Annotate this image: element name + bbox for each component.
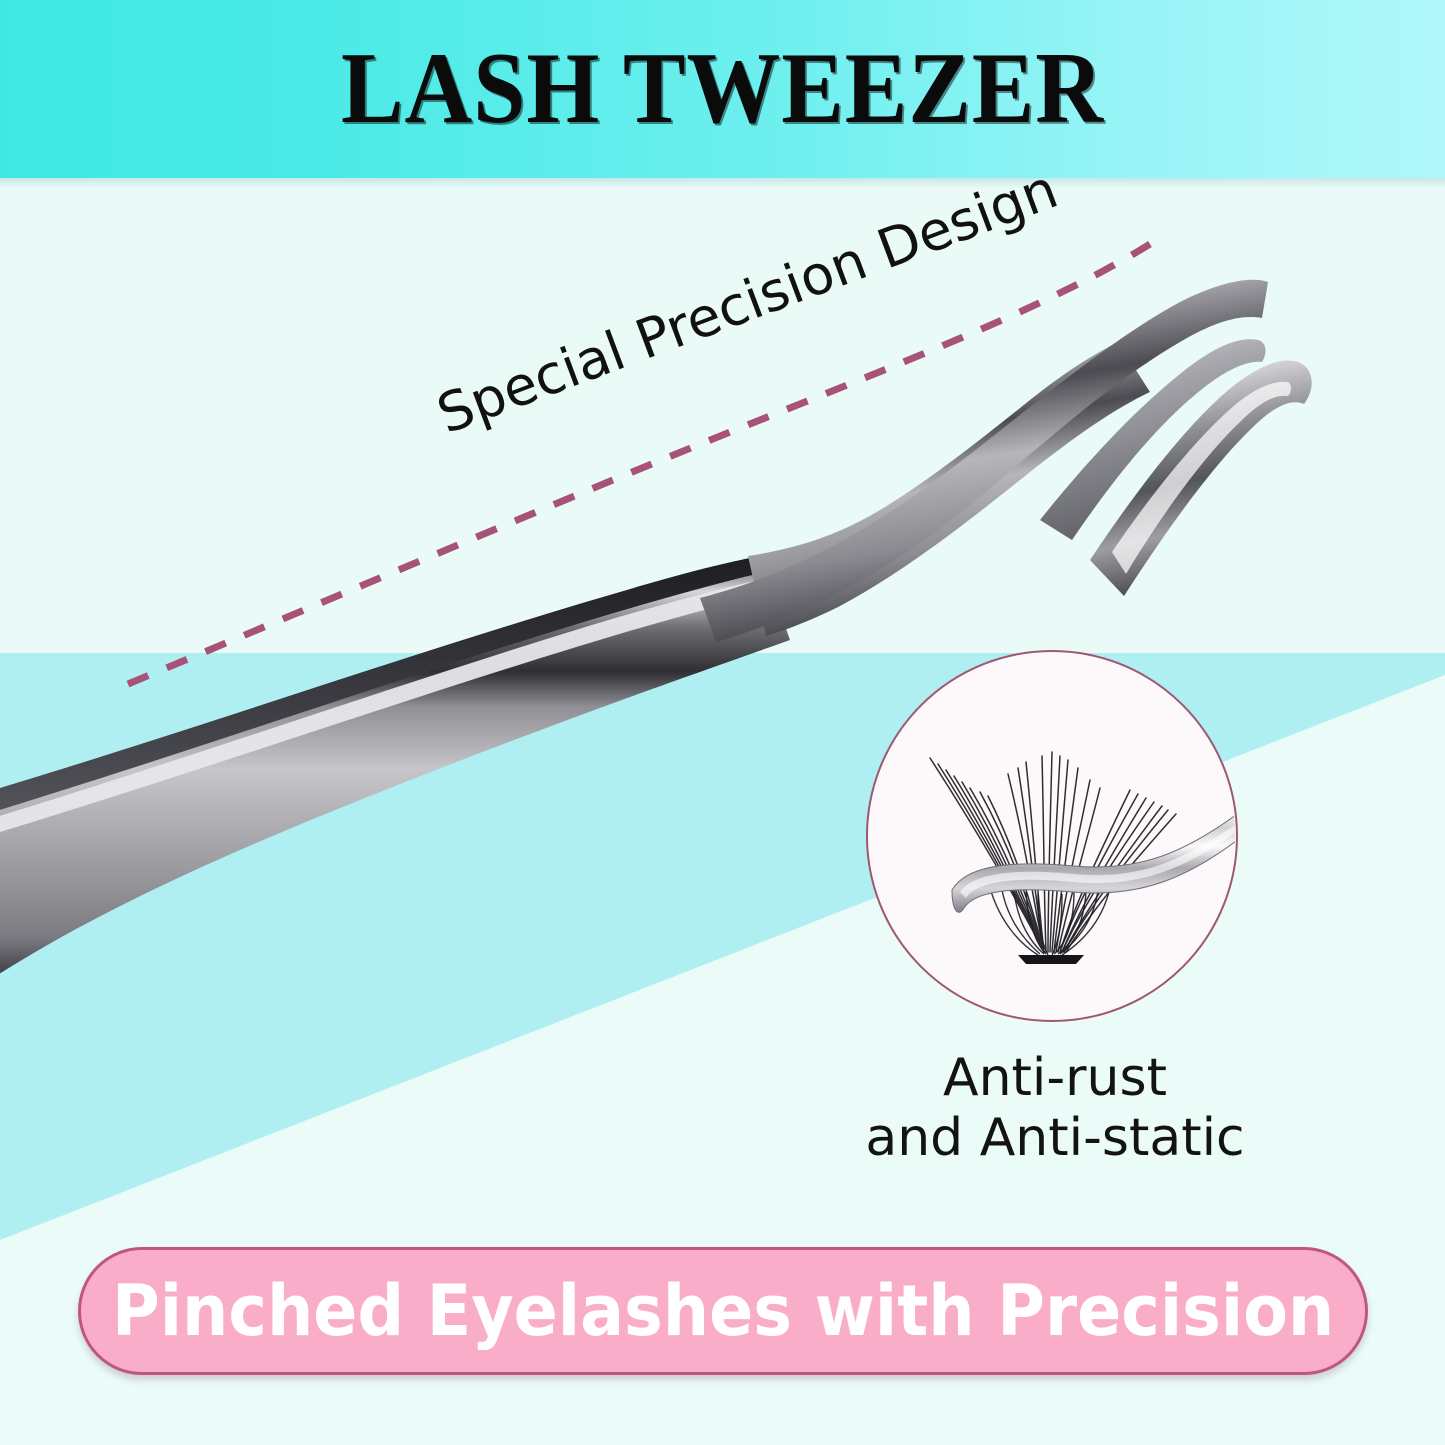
- background-pale-band: [0, 178, 1445, 654]
- feature-caption-line-1: Anti-rust: [830, 1048, 1280, 1108]
- footer-banner-text: Pinched Eyelashes with Precision: [112, 1270, 1334, 1352]
- product-poster: LASH TWEEZER: [0, 0, 1445, 1445]
- lash-fan-icon: [868, 652, 1236, 1020]
- feature-caption: Anti-rust and Anti-static: [830, 1048, 1280, 1169]
- feature-inset-circle: [866, 650, 1238, 1022]
- page-title: LASH TWEEZER: [58, 38, 1387, 140]
- header-shadow: [0, 178, 1445, 188]
- feature-caption-line-2: and Anti-static: [830, 1108, 1280, 1168]
- footer-banner: Pinched Eyelashes with Precision: [78, 1247, 1368, 1375]
